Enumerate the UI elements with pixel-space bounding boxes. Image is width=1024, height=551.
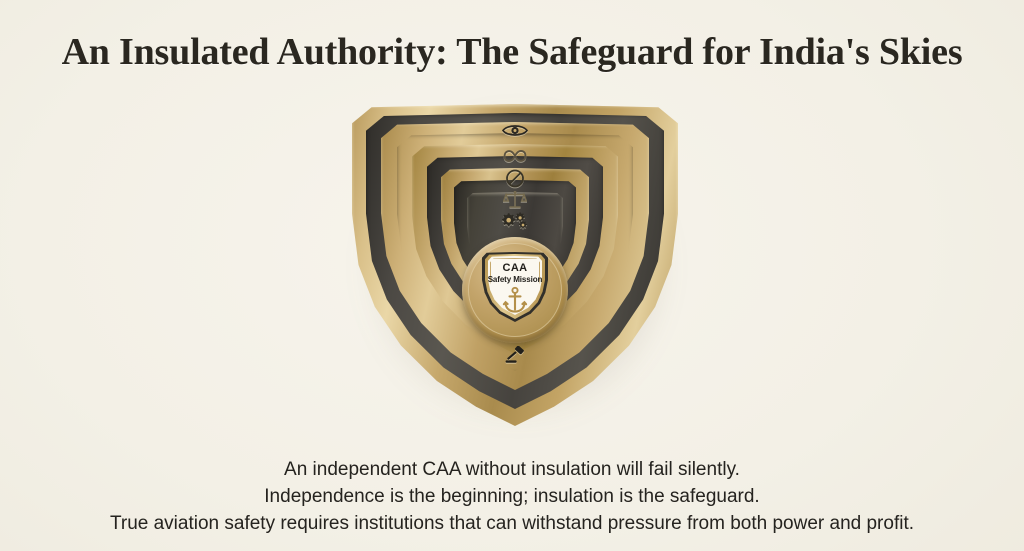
poster-canvas: An Insulated Authority: The Safeguard fo… xyxy=(0,0,1024,551)
page-title: An Insulated Authority: The Safeguard fo… xyxy=(0,30,1024,74)
gears-icon xyxy=(501,211,529,229)
caption-line-1: An independent CAA without insulation wi… xyxy=(0,456,1024,483)
gavel-icon xyxy=(503,346,527,366)
caa-safety-mission-emblem: CAA Safety Mission xyxy=(462,237,568,343)
infinity-icon xyxy=(501,148,529,164)
eye-icon xyxy=(502,123,528,138)
scales-icon xyxy=(503,190,527,209)
layered-insulation-shield: CAA Safety Mission xyxy=(349,100,681,430)
caption-block: An independent CAA without insulation wi… xyxy=(0,456,1024,537)
anchor-icon xyxy=(482,286,548,319)
prohibition-icon xyxy=(506,169,525,188)
caption-line-2: Independence is the beginning; insulatio… xyxy=(0,483,1024,510)
emblem-shield: CAA Safety Mission xyxy=(482,252,548,322)
caption-line-3: True aviation safety requires institutio… xyxy=(0,510,1024,537)
